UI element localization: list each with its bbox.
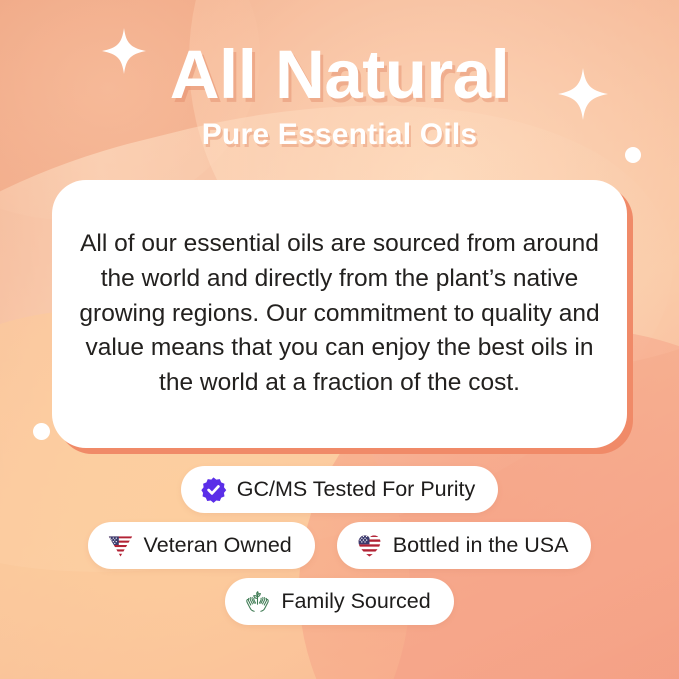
badge-veteran-owned[interactable]: Veteran Owned xyxy=(88,522,315,569)
waving-us-flag-icon xyxy=(107,532,134,559)
badge-row-3: Family Sourced xyxy=(225,578,453,625)
badge-label: Family Sourced xyxy=(281,591,430,613)
description-card: All of our essential oils are sourced fr… xyxy=(52,180,627,448)
badge-label: GC/MS Tested For Purity xyxy=(237,479,476,501)
headline-block: All Natural Pure Essential Oils xyxy=(0,40,679,151)
badge-bottled-in-usa[interactable]: Bottled in the USA xyxy=(337,522,592,569)
badge-gcms-tested[interactable]: GC/MS Tested For Purity xyxy=(181,466,499,513)
badge-row-2: Veteran Owned xyxy=(88,522,592,569)
poster-canvas: All Natural Pure Essential Oils All of o… xyxy=(0,0,679,679)
badge-family-sourced[interactable]: Family Sourced xyxy=(225,578,453,625)
page-title: All Natural xyxy=(0,40,679,110)
page-subtitle: Pure Essential Oils xyxy=(0,118,679,151)
badge-label: Bottled in the USA xyxy=(393,535,569,557)
badge-label: Veteran Owned xyxy=(144,535,292,557)
dot-decoration xyxy=(33,423,50,440)
heart-us-flag-icon xyxy=(356,532,383,559)
description-card-wrapper: All of our essential oils are sourced fr… xyxy=(52,180,627,448)
description-text: All of our essential oils are sourced fr… xyxy=(78,227,601,401)
badge-list: GC/MS Tested For Purity xyxy=(0,466,679,625)
badge-row-1: GC/MS Tested For Purity xyxy=(181,466,499,513)
verified-badge-icon xyxy=(200,476,227,503)
hands-holding-sprout-icon xyxy=(244,588,271,615)
